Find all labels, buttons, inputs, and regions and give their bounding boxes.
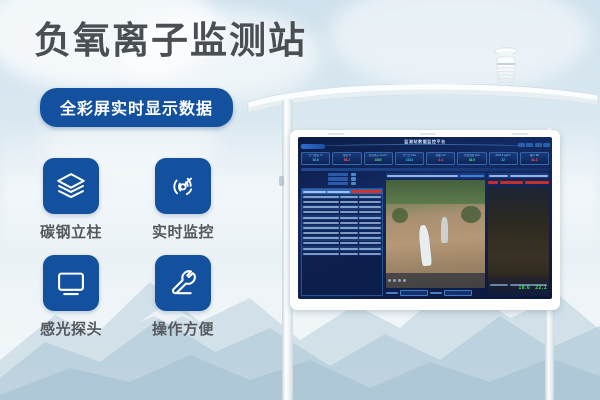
metric-value: 1013 xyxy=(396,158,423,163)
feature-row: 感光探头 操作方便 xyxy=(40,255,230,339)
metric-cards: 空气温度 ℃18.6湿度 %56.2负氧离子 pcs/m³1860大气压 hPa… xyxy=(301,152,549,165)
metric-value: 56.2 xyxy=(333,158,360,163)
secondary-camera-feed[interactable]: 18.6 22.1 xyxy=(488,187,549,297)
feature-item-easy-operation[interactable]: 操作方便 xyxy=(152,255,214,339)
camera-label xyxy=(490,284,508,286)
video-title-bar xyxy=(386,173,485,178)
wrench-icon xyxy=(155,255,211,311)
alarm-badge xyxy=(351,190,381,193)
table-cell xyxy=(340,237,358,239)
layers-icon xyxy=(43,158,99,214)
table-cell xyxy=(303,232,339,234)
pole-bracket xyxy=(279,176,284,186)
table-cell xyxy=(359,201,381,203)
feature-label: 碳钢立柱 xyxy=(40,221,102,242)
table-cell xyxy=(359,227,381,229)
radar-icon xyxy=(155,158,211,214)
toolbar-button[interactable] xyxy=(518,143,525,147)
table-cell xyxy=(303,206,339,208)
alarm-row[interactable] xyxy=(488,180,549,185)
feature-item-realtime-monitoring[interactable]: 实时监控 xyxy=(152,158,214,242)
video-filter-bar[interactable] xyxy=(386,290,485,296)
table-cell xyxy=(359,211,381,213)
table-cell xyxy=(359,253,381,255)
table-cell xyxy=(340,232,358,234)
table-cell xyxy=(303,217,339,219)
feature-item-light-sensor[interactable]: 感光探头 xyxy=(40,255,102,339)
table-cell xyxy=(359,206,381,208)
metric-value: 22 xyxy=(490,158,517,163)
video-foliage xyxy=(392,208,408,223)
led-display-panel[interactable]: 监测站数据监控平台 空气温度 ℃18.6湿度 %56.2负氧离子 pcs/m³1… xyxy=(290,130,560,310)
data-table[interactable] xyxy=(301,188,383,296)
dashboard-body: 18.6 22.1 xyxy=(301,173,549,296)
alarm-level xyxy=(488,181,498,184)
table-cell xyxy=(303,201,339,203)
table-cell xyxy=(303,196,339,198)
filter-label xyxy=(386,292,398,295)
page-title: 负氧离子监测站 xyxy=(34,22,307,59)
summary-values xyxy=(301,173,383,186)
toolbar-button[interactable] xyxy=(535,143,542,147)
table-cell xyxy=(359,217,381,219)
video-foliage xyxy=(461,206,481,223)
video-status-chip xyxy=(460,175,484,177)
big-readouts: 18.6 22.1 xyxy=(519,285,547,291)
table-cell xyxy=(359,248,381,250)
metric-card: 大气压 hPa1013 xyxy=(395,152,424,165)
feature-label: 操作方便 xyxy=(152,318,214,339)
video-snapshot-button[interactable] xyxy=(398,279,401,282)
feature-label: 实时监控 xyxy=(152,221,214,242)
table-cell xyxy=(303,222,339,224)
alarm-message xyxy=(500,181,524,184)
table-cell xyxy=(359,242,381,244)
alarm-panel-header xyxy=(488,173,549,178)
table-cell xyxy=(303,237,339,239)
right-column: 18.6 22.1 xyxy=(488,173,549,296)
video-play-button[interactable] xyxy=(388,279,391,282)
toolbar-button[interactable] xyxy=(543,143,550,147)
alarm-panel-label xyxy=(489,175,508,177)
metric-card: 空气温度 ℃18.6 xyxy=(301,152,330,165)
promo-banner: 监测站数据监控平台 空气温度 ℃18.6湿度 %56.2负氧离子 pcs/m³1… xyxy=(0,0,600,400)
table-cell xyxy=(340,217,358,219)
metric-value: 41.3 xyxy=(521,158,548,163)
table-cell xyxy=(340,222,358,224)
video-column xyxy=(386,173,485,296)
video-title-label xyxy=(387,175,458,177)
table-cell xyxy=(340,211,358,213)
subtitle-badge: 全彩屏实时显示数据 xyxy=(40,88,233,127)
metric-card: 负氧离子 pcs/m³1860 xyxy=(364,152,393,165)
table-body[interactable] xyxy=(302,194,382,256)
dashboard-header-wave xyxy=(313,144,537,150)
metric-value: 1860 xyxy=(365,158,392,163)
metric-card: 光照强度 klux38.5 xyxy=(457,152,486,165)
table-cell xyxy=(359,232,381,234)
table-cell xyxy=(303,242,339,244)
left-column xyxy=(301,173,383,296)
table-cell xyxy=(340,227,358,229)
video-fullscreen-button[interactable] xyxy=(403,279,406,282)
table-cell xyxy=(340,248,358,250)
table-row[interactable] xyxy=(302,251,382,256)
metric-value: 18.6 xyxy=(302,158,329,163)
feature-item-carbon-steel-pole[interactable]: 碳钢立柱 xyxy=(40,158,102,242)
dashboard-toolbar[interactable] xyxy=(518,143,551,147)
video-controls[interactable] xyxy=(386,273,485,288)
table-cell xyxy=(303,248,339,250)
table-column-header xyxy=(303,191,326,193)
metric-value: 38.5 xyxy=(458,158,485,163)
toolbar-button[interactable] xyxy=(526,143,533,147)
metric-card: 湿度 %56.2 xyxy=(332,152,361,165)
metric-card: 噪声 dB41.3 xyxy=(520,152,549,165)
table-cell xyxy=(303,227,339,229)
metric-value: 2.4 xyxy=(427,158,454,163)
table-column-header xyxy=(327,191,350,193)
table-cell xyxy=(340,206,358,208)
table-cell xyxy=(340,196,358,198)
table-cell xyxy=(303,211,339,213)
table-cell xyxy=(340,201,358,203)
metric-card: PM2.5 μg/m³22 xyxy=(489,152,518,165)
dashboard-screen[interactable]: 监测站数据监控平台 空气温度 ℃18.6湿度 %56.2负氧离子 pcs/m³1… xyxy=(298,137,552,299)
feature-row: 碳钢立柱 实时监控 xyxy=(40,158,230,242)
alarm-panel-chip xyxy=(510,175,548,177)
feature-label: 感光探头 xyxy=(40,318,102,339)
live-video-feed[interactable] xyxy=(386,180,485,288)
alarm-time xyxy=(525,181,549,184)
section-divider xyxy=(301,168,549,171)
canopy xyxy=(246,84,600,124)
table-cell xyxy=(340,242,358,244)
table-cell xyxy=(340,253,358,255)
big-readout-value: 18.6 xyxy=(519,285,531,291)
table-cell xyxy=(359,196,381,198)
device-select[interactable] xyxy=(400,290,428,297)
monitor-icon xyxy=(43,255,99,311)
metric-card: 风速 m/s2.4 xyxy=(426,152,455,165)
video-pause-button[interactable] xyxy=(393,279,396,282)
table-cell xyxy=(359,237,381,239)
filter-label xyxy=(430,292,442,295)
video-subject xyxy=(441,217,448,243)
table-cell xyxy=(303,253,339,255)
big-readout-value: 22.1 xyxy=(535,285,547,291)
video-subject xyxy=(417,225,431,267)
feature-grid: 碳钢立柱 实时监控 xyxy=(40,158,230,352)
table-cell xyxy=(359,222,381,224)
video-horizon xyxy=(386,180,485,204)
channel-select[interactable] xyxy=(444,290,472,297)
